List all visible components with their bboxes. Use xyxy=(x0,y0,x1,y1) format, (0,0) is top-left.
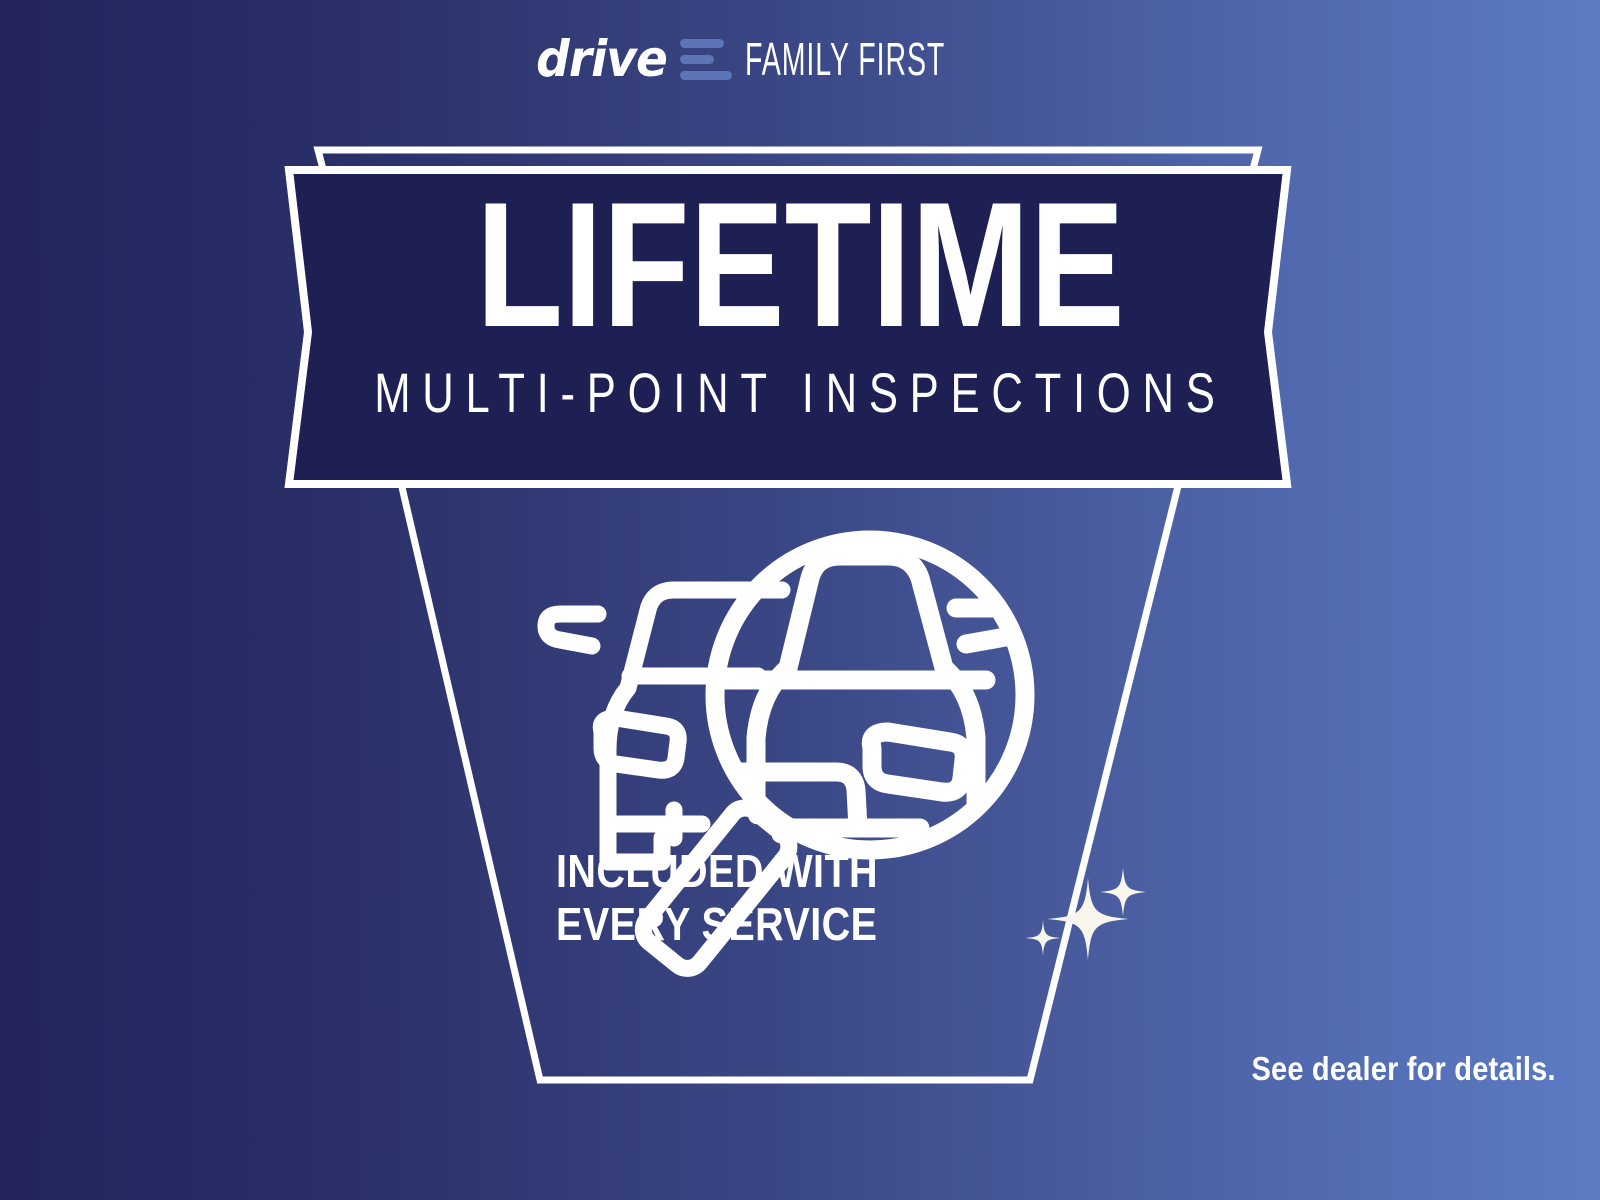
brand-tagline: FAMILY FIRST xyxy=(745,36,945,82)
banner: LIFETIME MULTI-POINT INSPECTIONS xyxy=(0,136,1600,496)
included-copy: INCLUDED WITH EVERY SERVICE xyxy=(556,845,878,952)
brand-wordmark: drive xyxy=(536,34,667,84)
three-bars-icon xyxy=(680,39,732,80)
promo-graphic: drive FAMILY FIRST LIFETIME MULTI-POINT … xyxy=(0,0,1600,1200)
subheadline: MULTI-POINT INSPECTIONS xyxy=(374,365,1226,421)
magnified-car xyxy=(720,556,1016,884)
brand-logo: drive FAMILY FIRST xyxy=(0,34,1600,84)
headline: LIFETIME xyxy=(476,188,1125,341)
sparkle-stars-icon xyxy=(1010,850,1150,990)
disclaimer-text: See dealer for details. xyxy=(1252,1052,1556,1085)
